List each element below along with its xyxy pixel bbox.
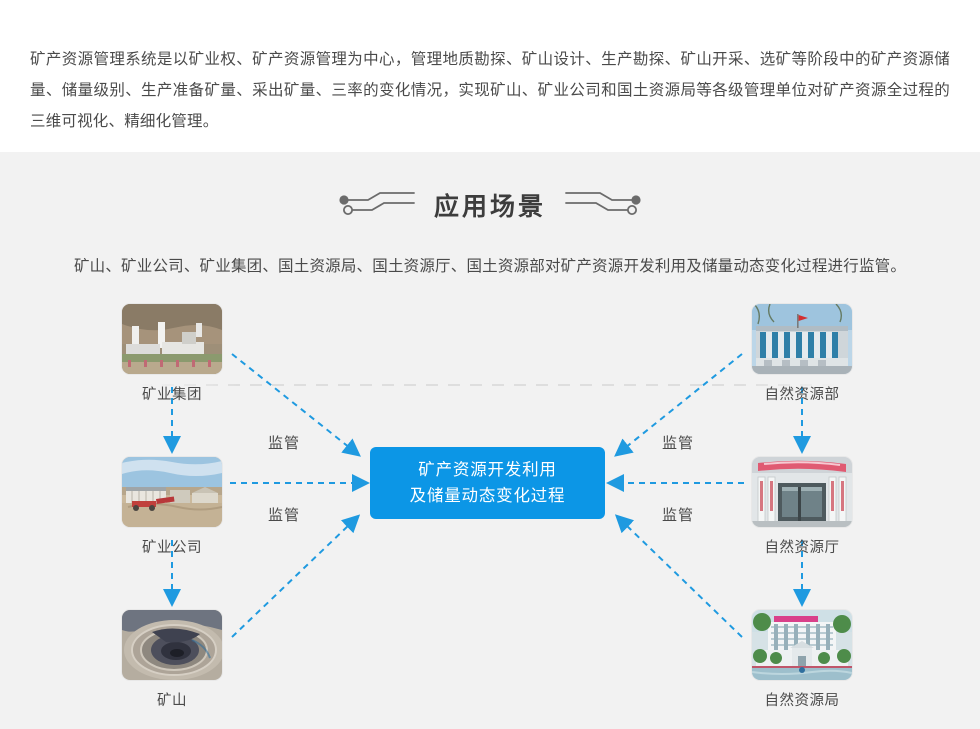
edge-label-supervise-left-bottom: 监管 bbox=[268, 504, 300, 525]
center-box-line-1: 矿产资源开发利用 bbox=[418, 457, 556, 483]
application-scenario-section: 应用场景 矿山、矿业公司、矿业集团、国土资源局、国土资源厅、国土资源部对矿产资源… bbox=[0, 152, 980, 729]
section-title: 应用场景 bbox=[434, 187, 546, 223]
section-header: 应用场景 bbox=[0, 152, 980, 224]
industrial-plant-photo bbox=[122, 457, 222, 527]
node-ministry[interactable]: 自然资源部 bbox=[752, 304, 852, 404]
node-dept[interactable]: 自然资源厅 bbox=[752, 457, 852, 557]
arrow-bureau-to-center bbox=[625, 524, 742, 637]
node-mine[interactable]: 矿山 bbox=[122, 610, 222, 710]
edge-label-supervise-right-bottom: 监管 bbox=[662, 504, 694, 525]
node-caption: 自然资源部 bbox=[752, 383, 852, 404]
node-bureau[interactable]: 自然资源局 bbox=[752, 610, 852, 710]
circuit-ornament-right-icon bbox=[564, 189, 644, 221]
node-caption: 矿业公司 bbox=[122, 536, 222, 557]
node-mining-company[interactable]: 矿业公司 bbox=[122, 457, 222, 557]
node-caption: 自然资源厅 bbox=[752, 536, 852, 557]
node-caption: 自然资源局 bbox=[752, 689, 852, 710]
node-mining-group[interactable]: 矿业集团 bbox=[122, 304, 222, 404]
circuit-ornament-left-icon bbox=[336, 189, 416, 221]
mining-complex-photo bbox=[122, 304, 222, 374]
bureau-building-photo bbox=[752, 610, 852, 680]
scenario-lead-text: 矿山、矿业公司、矿业集团、国土资源局、国土资源厅、国土资源部对矿产资源开发利用及… bbox=[0, 254, 980, 276]
intro-paragraph: 矿产资源管理系统是以矿业权、矿产资源管理为中心，管理地质勘探、矿山设计、生产勘探… bbox=[30, 44, 950, 137]
edge-label-supervise-right-top: 监管 bbox=[662, 432, 694, 453]
center-box-line-2: 及储量动态变化过程 bbox=[410, 483, 566, 509]
node-caption: 矿山 bbox=[122, 689, 222, 710]
edge-label-supervise-left-top: 监管 bbox=[268, 432, 300, 453]
node-caption: 矿业集团 bbox=[122, 383, 222, 404]
intro-section: 矿产资源管理系统是以矿业权、矿产资源管理为中心，管理地质勘探、矿山设计、生产勘探… bbox=[0, 0, 980, 152]
ministry-building-photo bbox=[752, 304, 852, 374]
open-pit-mine-photo bbox=[122, 610, 222, 680]
arrow-mine-to-center bbox=[232, 524, 350, 637]
supervision-diagram: 矿业集团 bbox=[0, 292, 980, 722]
center-process-box[interactable]: 矿产资源开发利用 及储量动态变化过程 bbox=[370, 447, 605, 519]
department-entrance-photo bbox=[752, 457, 852, 527]
